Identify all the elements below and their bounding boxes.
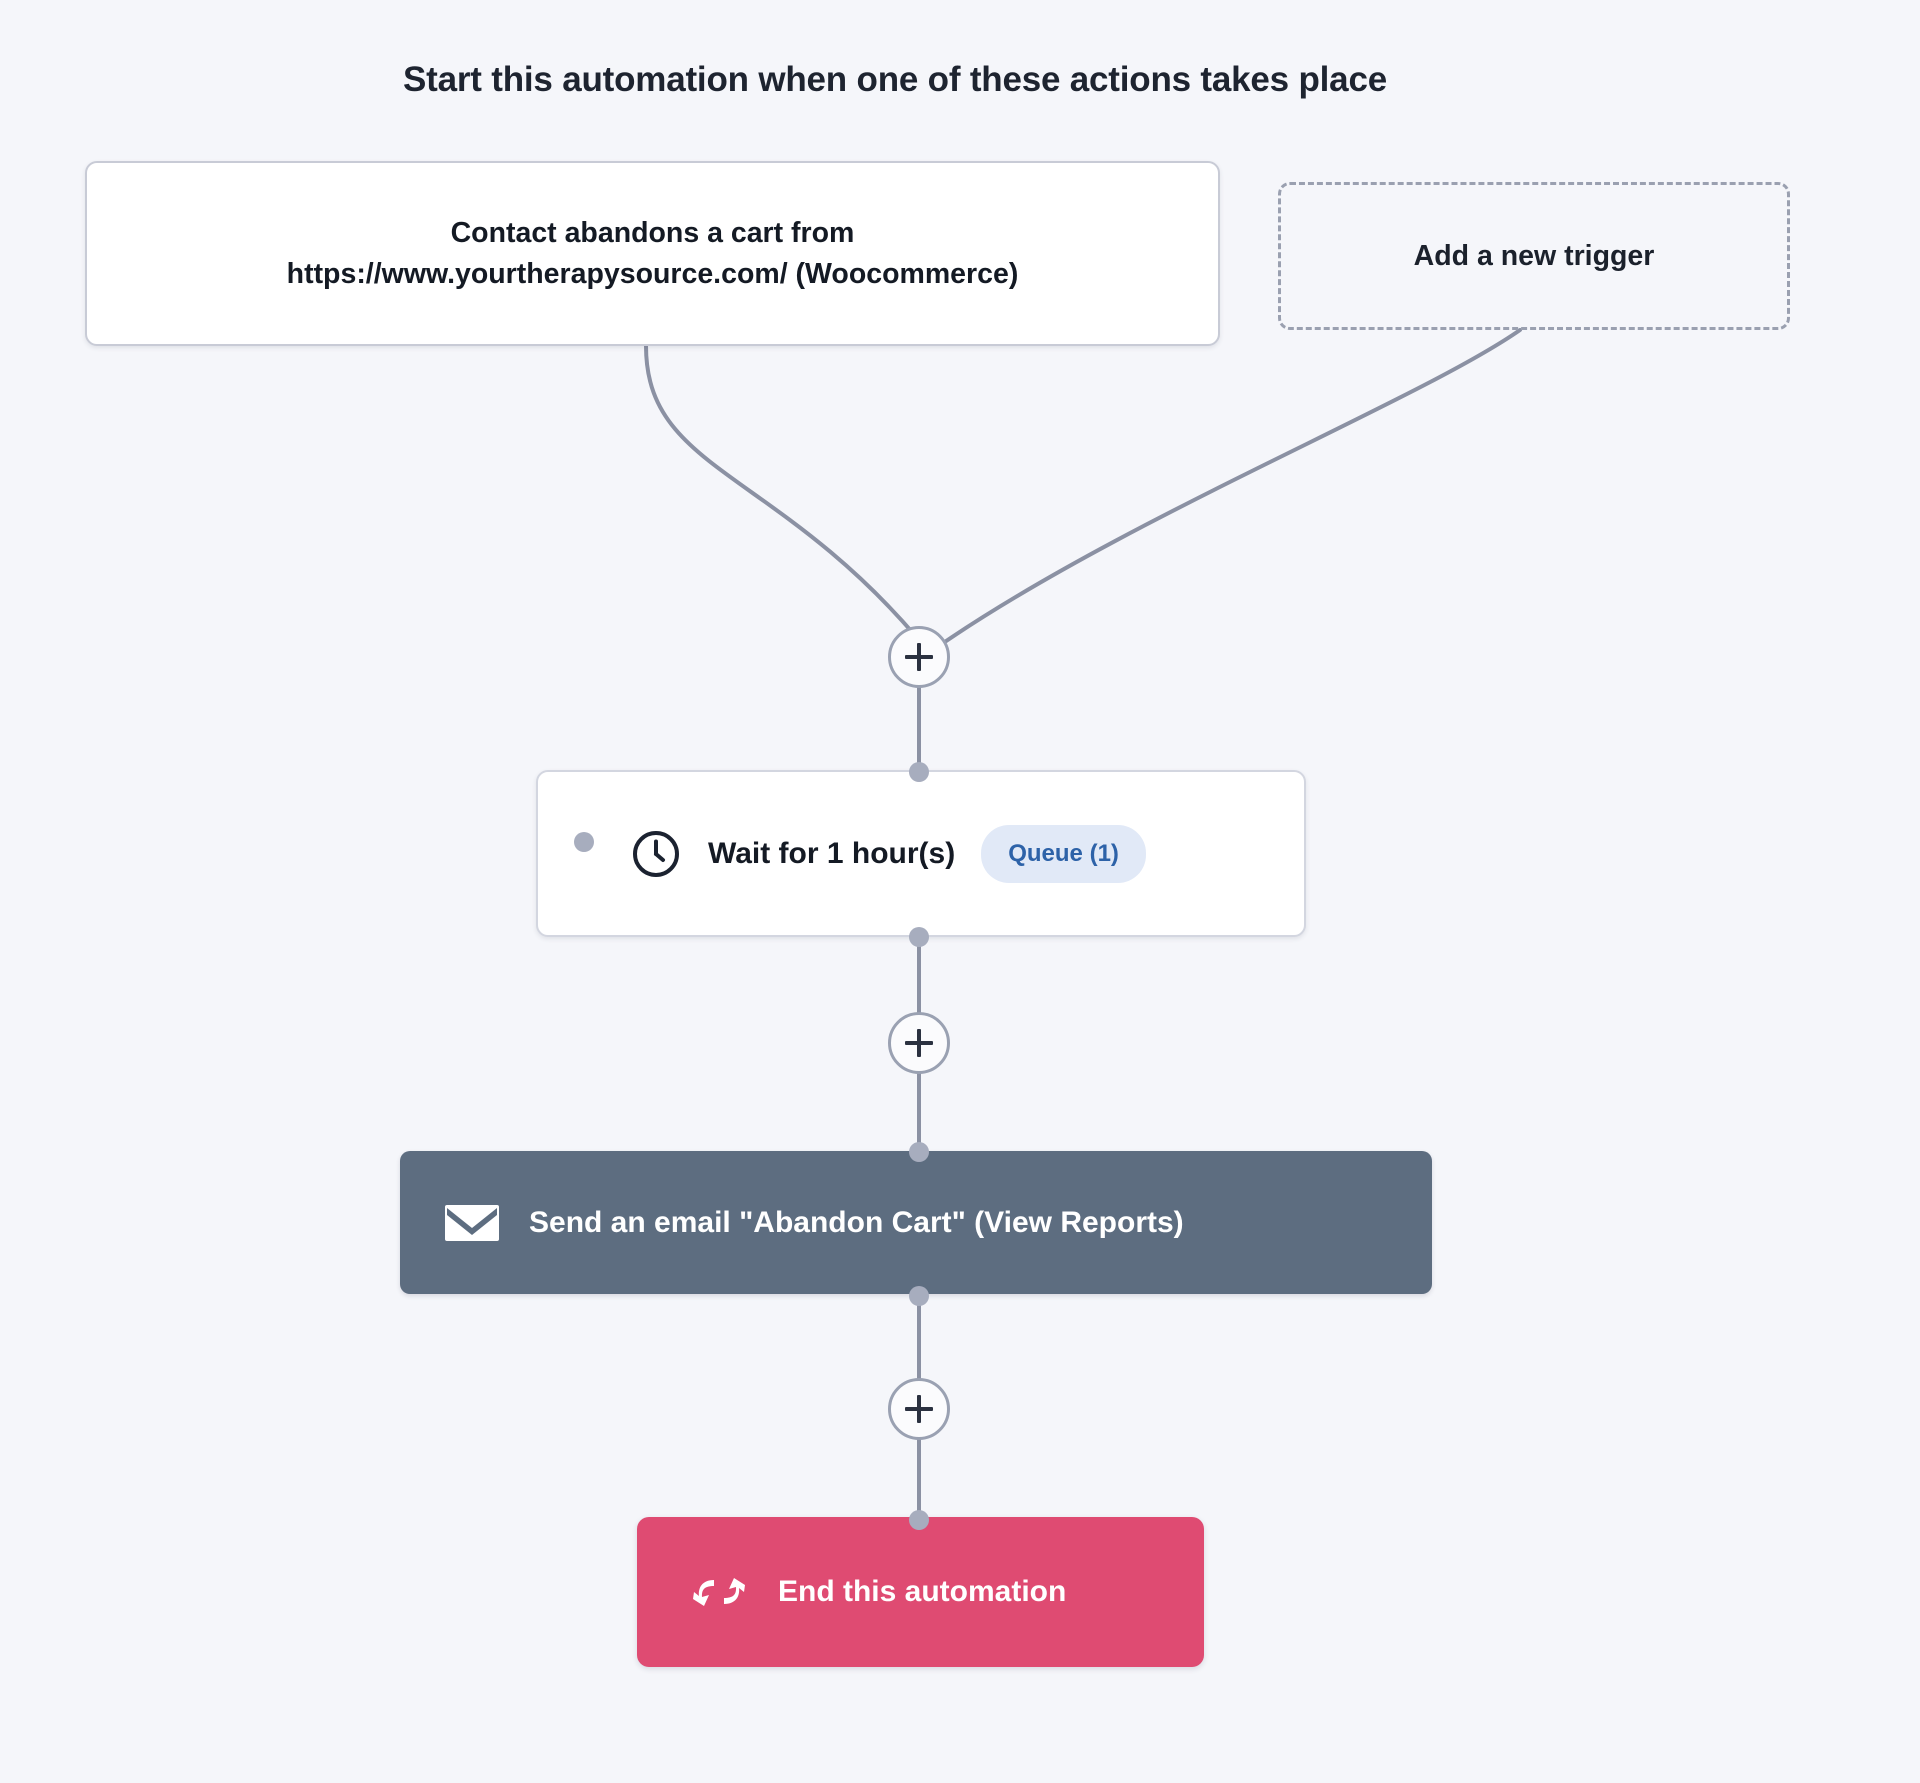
port-end-top [909, 1510, 929, 1530]
add-step-button-2[interactable] [888, 1012, 950, 1074]
trigger-label: Contact abandons a cart from https://www… [287, 213, 1019, 294]
add-step-button-1[interactable] [888, 626, 950, 688]
add-new-trigger-label: Add a new trigger [1414, 240, 1655, 273]
end-arrows-icon [692, 1568, 746, 1616]
port-email-bottom [909, 1286, 929, 1306]
page-title: Start this automation when one of these … [0, 60, 1790, 100]
edge-trigger2-to-junction [936, 330, 1520, 648]
step-send-email-label: Send an email "Abandon Cart" (View Repor… [529, 1206, 1184, 1240]
step-end-automation-card[interactable]: End this automation [637, 1517, 1204, 1667]
step-wait-card[interactable]: Wait for 1 hour(s) Queue (1) [536, 770, 1306, 937]
envelope-icon [443, 1201, 501, 1245]
port-email-top [909, 1142, 929, 1162]
port-wait-bottom [909, 927, 929, 947]
trigger-label-line1: Contact abandons a cart from [451, 217, 855, 249]
port-top [574, 832, 594, 852]
port-wait-top [909, 762, 929, 782]
add-new-trigger-button[interactable]: Add a new trigger [1278, 182, 1790, 330]
edge-trigger1-to-junction [646, 346, 919, 640]
queue-badge[interactable]: Queue (1) [981, 825, 1146, 883]
clock-icon [630, 828, 682, 880]
trigger-label-line2: https://www.yourtherapysource.com/ (Wooc… [287, 258, 1019, 290]
step-wait-label: Wait for 1 hour(s) [708, 837, 955, 871]
add-step-button-3[interactable] [888, 1378, 950, 1440]
trigger-card-abandon-cart[interactable]: Contact abandons a cart from https://www… [85, 161, 1220, 346]
step-send-email-card[interactable]: Send an email "Abandon Cart" (View Repor… [400, 1151, 1432, 1294]
step-end-label: End this automation [778, 1575, 1066, 1609]
automation-canvas: Start this automation when one of these … [0, 0, 1920, 1783]
